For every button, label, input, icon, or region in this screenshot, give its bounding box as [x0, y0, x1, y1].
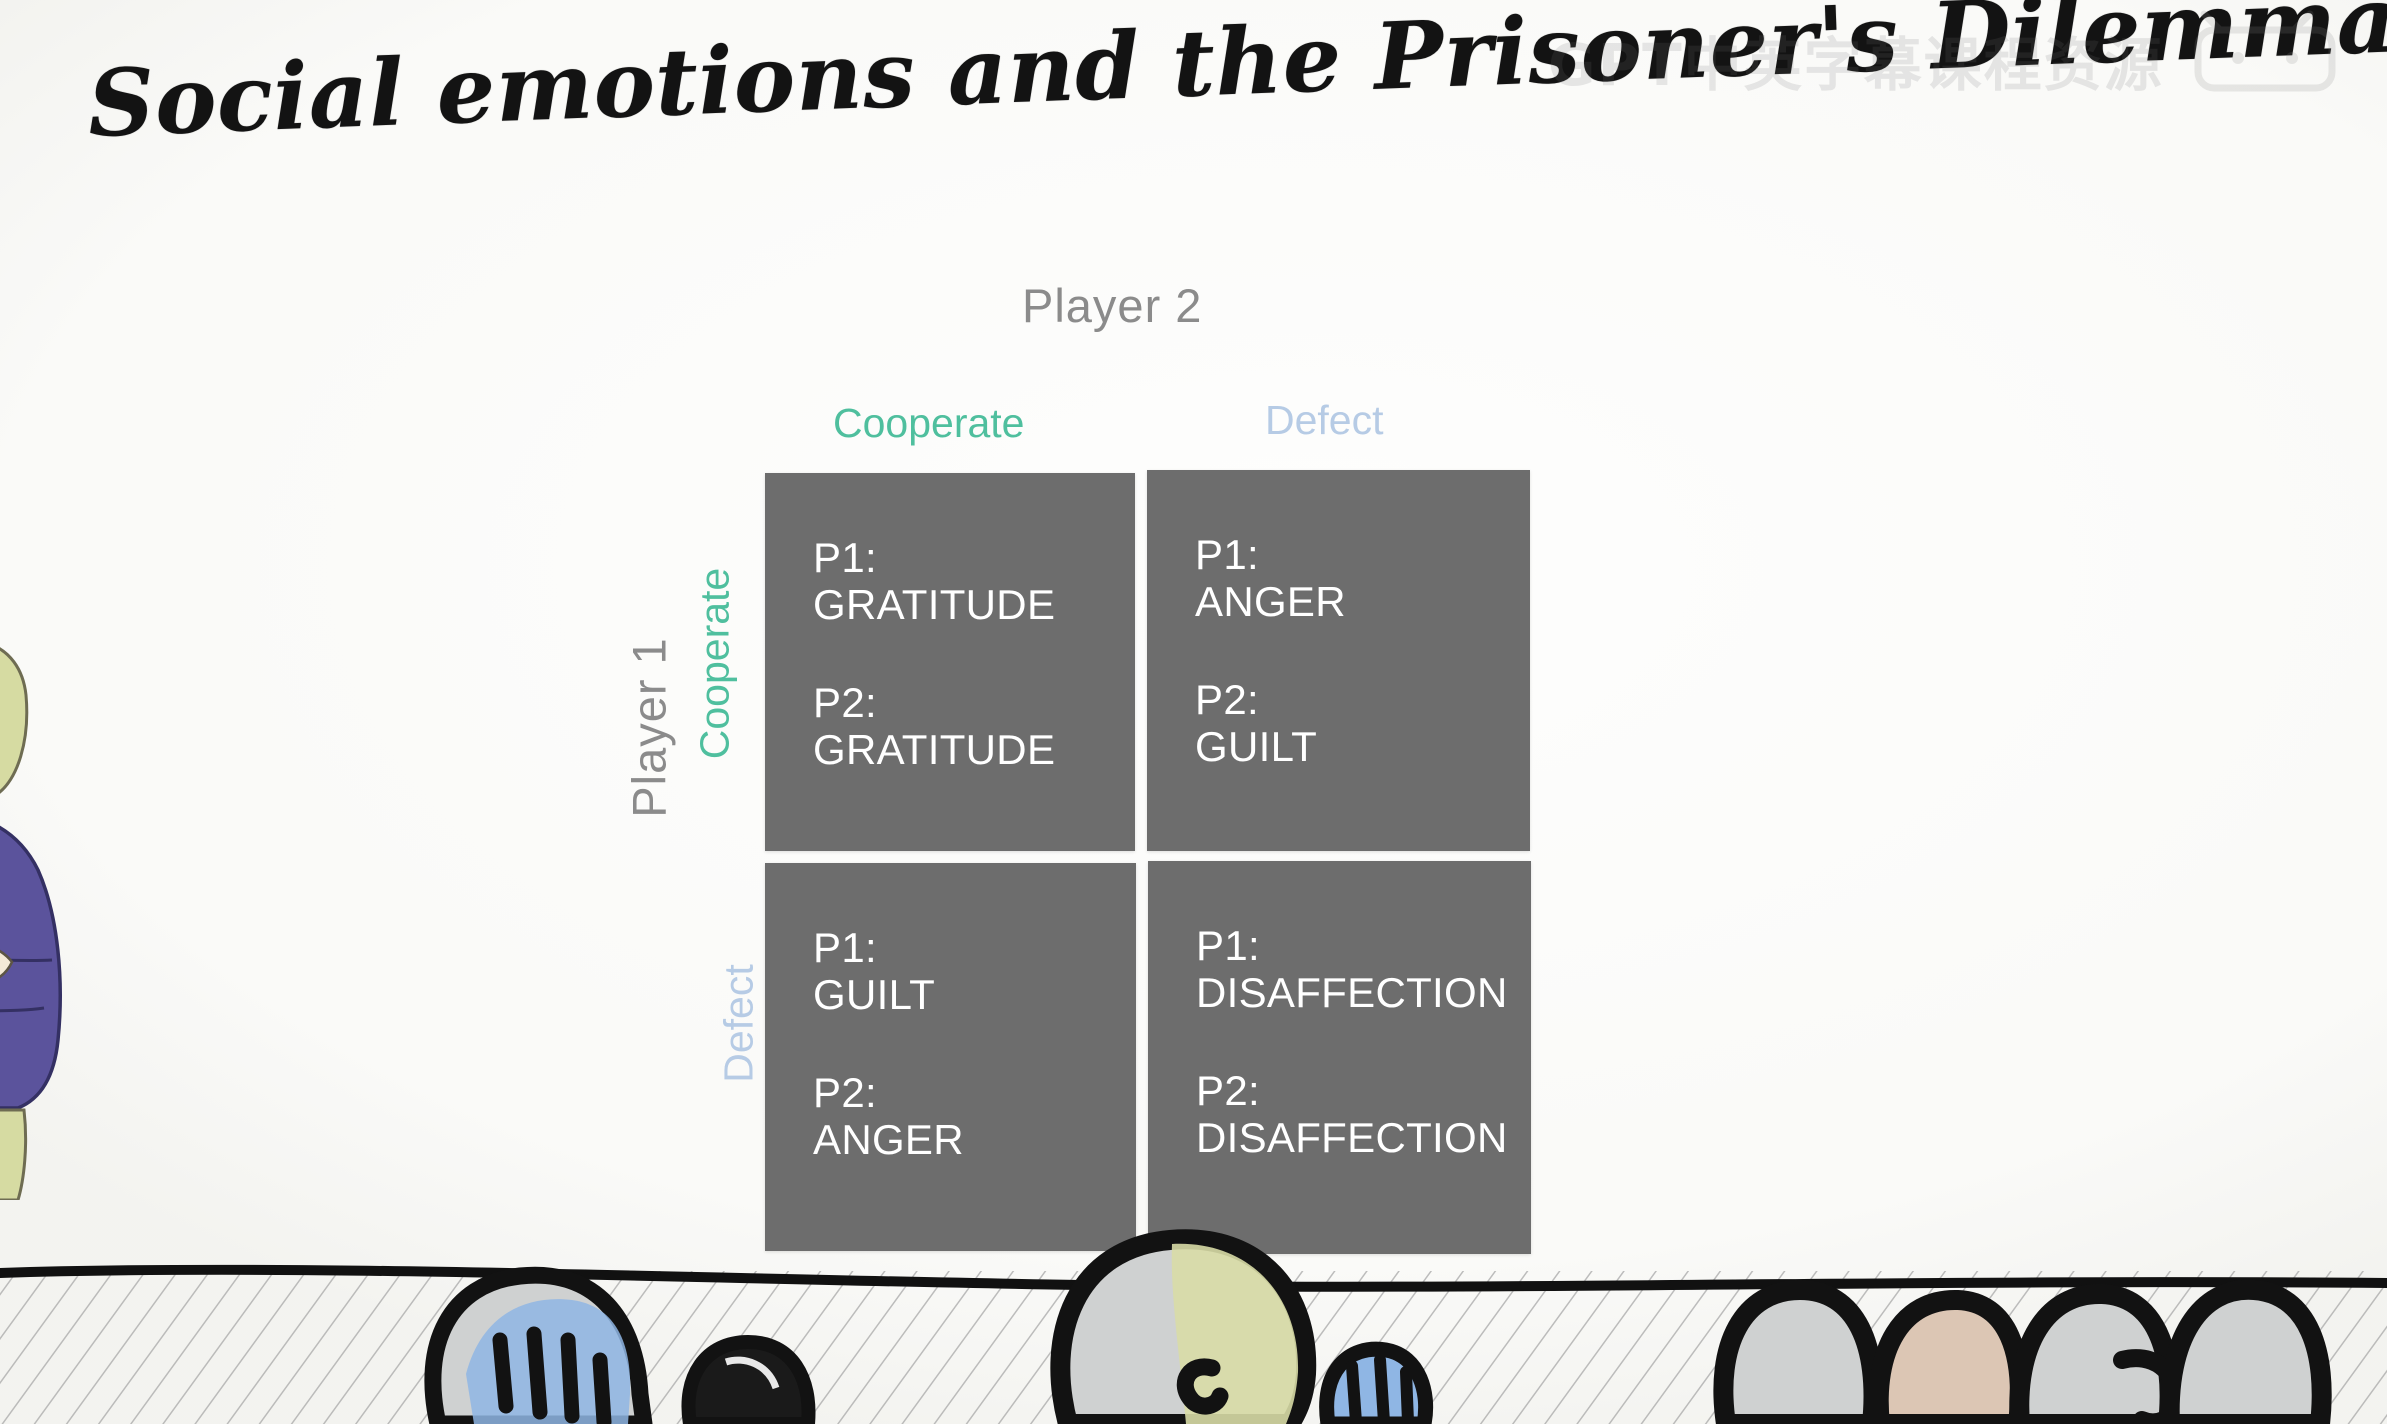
cell-p1-label: P1: — [1196, 923, 1531, 968]
audience-head-right-2 — [1879, 1300, 2020, 1424]
cell-p2-value: GRATITUDE — [813, 727, 1135, 772]
cell-p2-label: P2: — [1195, 677, 1530, 722]
cell-p2-value: GUILT — [1195, 724, 1530, 769]
cell-p1-label: P1: — [813, 535, 1135, 580]
audience-head-right-1 — [1723, 1290, 1873, 1424]
payoff-cell-cooperate-cooperate: P1: GRATITUDE P2: GRATITUDE — [765, 473, 1135, 851]
column-header-cooperate: Cooperate — [833, 400, 1024, 447]
cell-spacer — [813, 1018, 1136, 1070]
payoff-cell-cooperate-defect: P1: ANGER P2: GUILT — [1147, 470, 1530, 851]
cell-spacer — [1195, 625, 1530, 677]
audience-head-center — [1060, 1239, 1425, 1424]
cell-spacer — [1196, 1016, 1531, 1068]
audience-head-left — [433, 1275, 644, 1424]
cell-p2-label: P2: — [813, 680, 1135, 725]
player1-axis-label: Player 1 — [622, 588, 677, 868]
cell-p1-label: P1: — [1195, 532, 1530, 577]
audience-head-left-small — [688, 1342, 808, 1424]
cell-p2-label: P2: — [813, 1070, 1136, 1115]
audience-head-right-3 — [2019, 1294, 2176, 1424]
slide-stage: Social emotions and the Prisoner's Dilem… — [0, 0, 2387, 1424]
cell-p2-label: P2: — [1196, 1068, 1531, 1113]
column-header-defect: Defect — [1265, 397, 1384, 444]
cell-p1-value: GRATITUDE — [813, 582, 1135, 627]
bilibili-logo-icon — [2190, 8, 2340, 94]
cell-p1-value: DISAFFECTION — [1196, 970, 1531, 1015]
cell-p1-value: GUILT — [813, 972, 1136, 1017]
row-header-defect: Defect — [716, 894, 763, 1154]
audience-heads — [0, 1144, 2387, 1424]
cell-p1-value: ANGER — [1195, 579, 1530, 624]
row-header-cooperate: Cooperate — [692, 534, 739, 794]
player2-axis-label: Player 2 — [1022, 278, 1202, 333]
cell-spacer — [813, 628, 1135, 680]
channel-watermark: GPT中英字幕课程资源 — [1548, 18, 2164, 102]
audience-head-right-4 — [2170, 1290, 2322, 1424]
cell-p1-label: P1: — [813, 925, 1136, 970]
lecturer-figure — [0, 640, 108, 1200]
